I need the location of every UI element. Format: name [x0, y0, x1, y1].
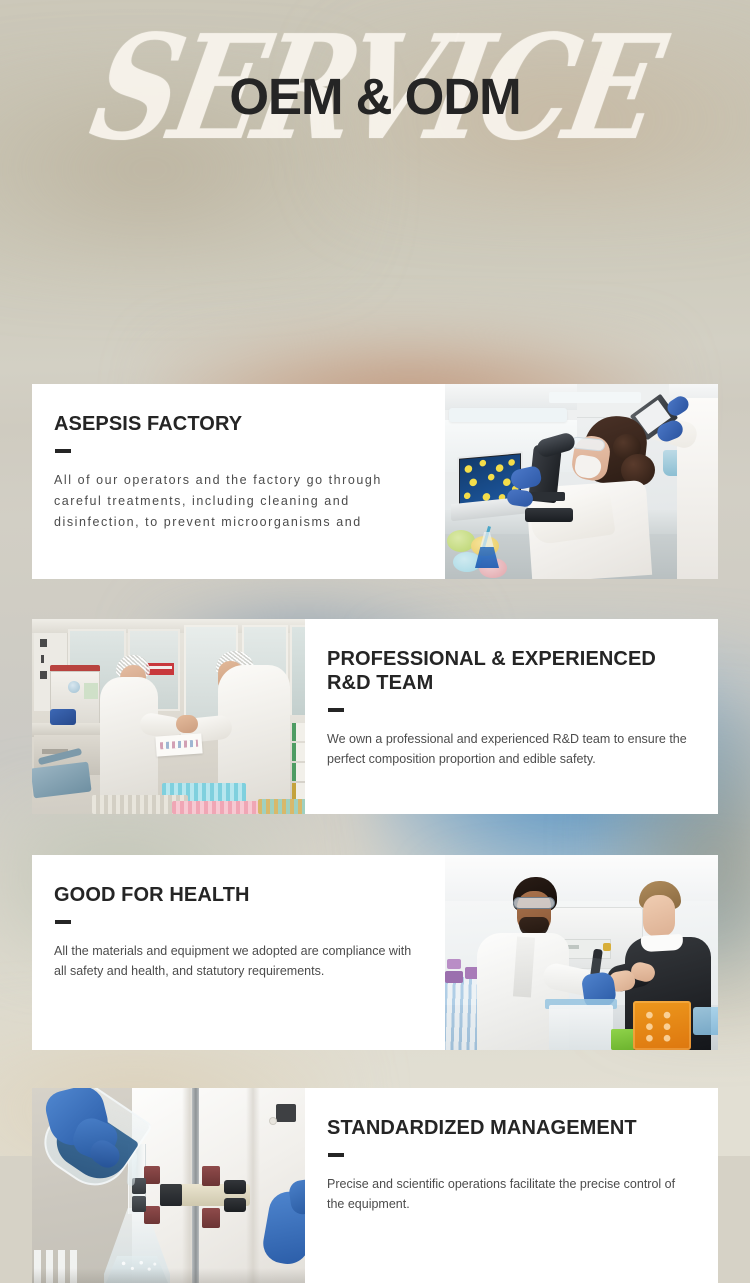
card-title: PROFESSIONAL & EXPERIENCED R&D TEAM: [327, 647, 692, 695]
card-image-cleanroom: [32, 619, 305, 814]
card-body: STANDARDIZED MANAGEMENT Precise and scie…: [305, 1088, 718, 1283]
card-title: ASEPSIS FACTORY: [54, 412, 419, 436]
page-title: OEM & ODM: [0, 68, 750, 126]
title-dash-divider: [328, 1153, 344, 1157]
card-description: Precise and scientific operations facili…: [327, 1174, 692, 1214]
card-description: All of our operators and the factory go …: [54, 470, 419, 533]
card-body: PROFESSIONAL & EXPERIENCED R&D TEAM We o…: [305, 619, 718, 814]
service-card[interactable]: STANDARDIZED MANAGEMENT Precise and scie…: [32, 1088, 718, 1283]
title-dash-divider: [55, 449, 71, 453]
scene-pouring-flask: [32, 1088, 305, 1283]
card-description: All the materials and equipment we adopt…: [54, 941, 419, 981]
card-title: STANDARDIZED MANAGEMENT: [327, 1116, 692, 1140]
card-image-pouring-flask: [32, 1088, 305, 1283]
card-description: We own a professional and experienced R&…: [327, 729, 692, 769]
card-body: ASEPSIS FACTORY All of our operators and…: [32, 384, 445, 579]
card-image-researchers: [445, 855, 718, 1050]
scene-cleanroom-workers: [32, 619, 305, 814]
page-header: SERVICE OEM & ODM: [0, 0, 750, 190]
service-card[interactable]: ASEPSIS FACTORY All of our operators and…: [32, 384, 718, 579]
title-dash-divider: [55, 920, 71, 924]
scene-microscope-lab: [445, 384, 718, 579]
service-card[interactable]: GOOD FOR HEALTH All the materials and eq…: [32, 855, 718, 1050]
scene-two-researchers: [445, 855, 718, 1050]
card-body: GOOD FOR HEALTH All the materials and eq…: [32, 855, 445, 1050]
service-card[interactable]: PROFESSIONAL & EXPERIENCED R&D TEAM We o…: [32, 619, 718, 814]
card-title: GOOD FOR HEALTH: [54, 883, 419, 907]
card-image-microscope-lab: [445, 384, 718, 579]
title-dash-divider: [328, 708, 344, 712]
